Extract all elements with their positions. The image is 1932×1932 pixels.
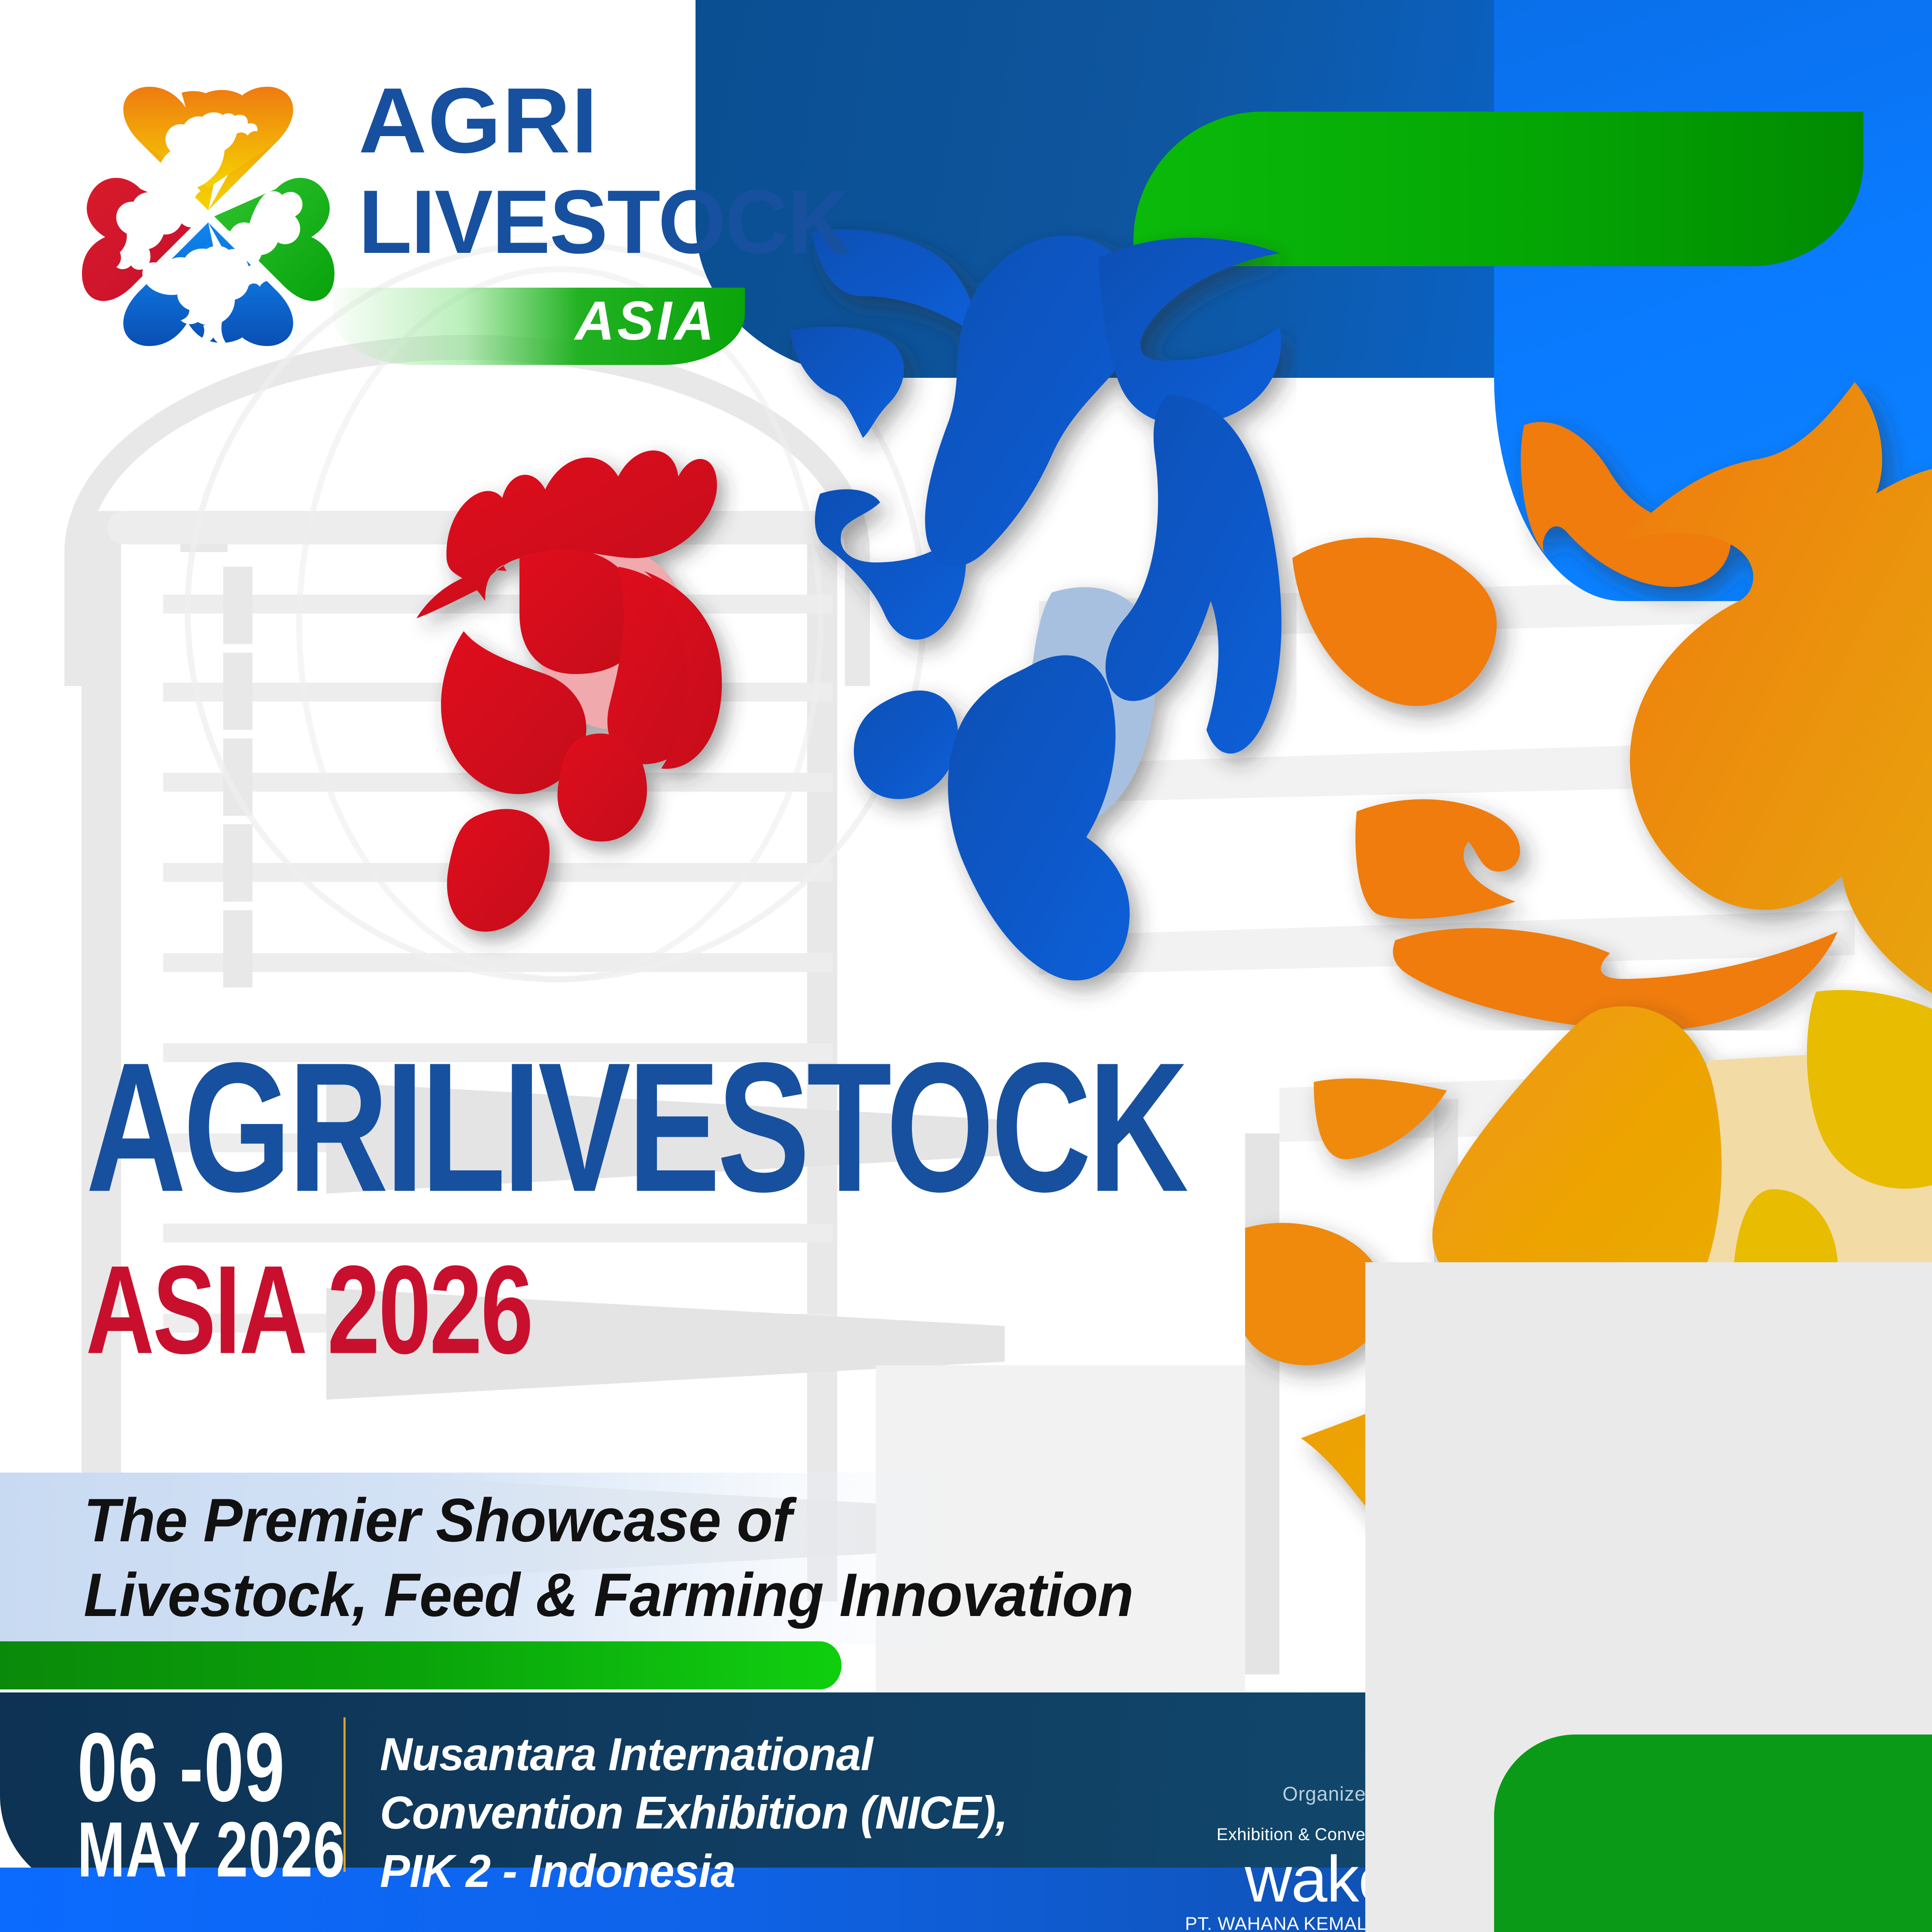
event-date-month: MAY 2026 [77,1813,312,1886]
brand-logo[interactable]: AGRI LIVESTOCK ASIA [75,64,745,374]
barn-stud [223,910,252,987]
logo-asia-band: ASIA [333,288,745,365]
cow-silhouette-orange [1284,361,1932,1030]
venue-line-2: Convention Exhibition (NICE), [380,1783,1130,1842]
event-date-range: 06 -09 [77,1722,312,1814]
event-date-block: 06 -09 MAY 2026 [77,1722,343,1874]
page-subtitle: ASIA 2026 [86,1249,1271,1370]
logo-wordmark: AGRI LIVESTOCK ASIA [358,64,745,374]
headline-block: AGRILIVESTOCK ASIA 2026 [86,1039,1374,1348]
tagline-line-2: Livestock, Feed & Farming Innovation [84,1558,1320,1633]
venue-line-1: Nusantara International [380,1725,1130,1783]
corner-green-bottom-right [1494,1735,1932,1932]
logo-text-asia: ASIA [575,294,717,349]
tagline: The Premier Showcase of Livestock, Feed … [84,1483,1320,1633]
logo-mark-icon [75,77,341,369]
logo-text-agri: AGRI [358,74,598,167]
goat-silhouette-blue [756,215,1297,1030]
rooster-silhouette [378,429,786,987]
logo-text-livestock: LIVESTOCK [358,177,850,267]
page-title: AGRILIVESTOCK [86,1039,1271,1216]
poster-canvas: AGRILIVESTOCK ASIA 2026 The Premier Show… [0,0,1932,1932]
green-divider-bar [0,1641,841,1689]
venue-line-3: PIK 2 - Indonesia [380,1842,1130,1900]
barn-stud [223,824,252,902]
event-venue: Nusantara International Convention Exhib… [380,1725,1130,1900]
tagline-line-1: The Premier Showcase of [84,1483,1320,1558]
footer-divider-line [343,1717,346,1872]
